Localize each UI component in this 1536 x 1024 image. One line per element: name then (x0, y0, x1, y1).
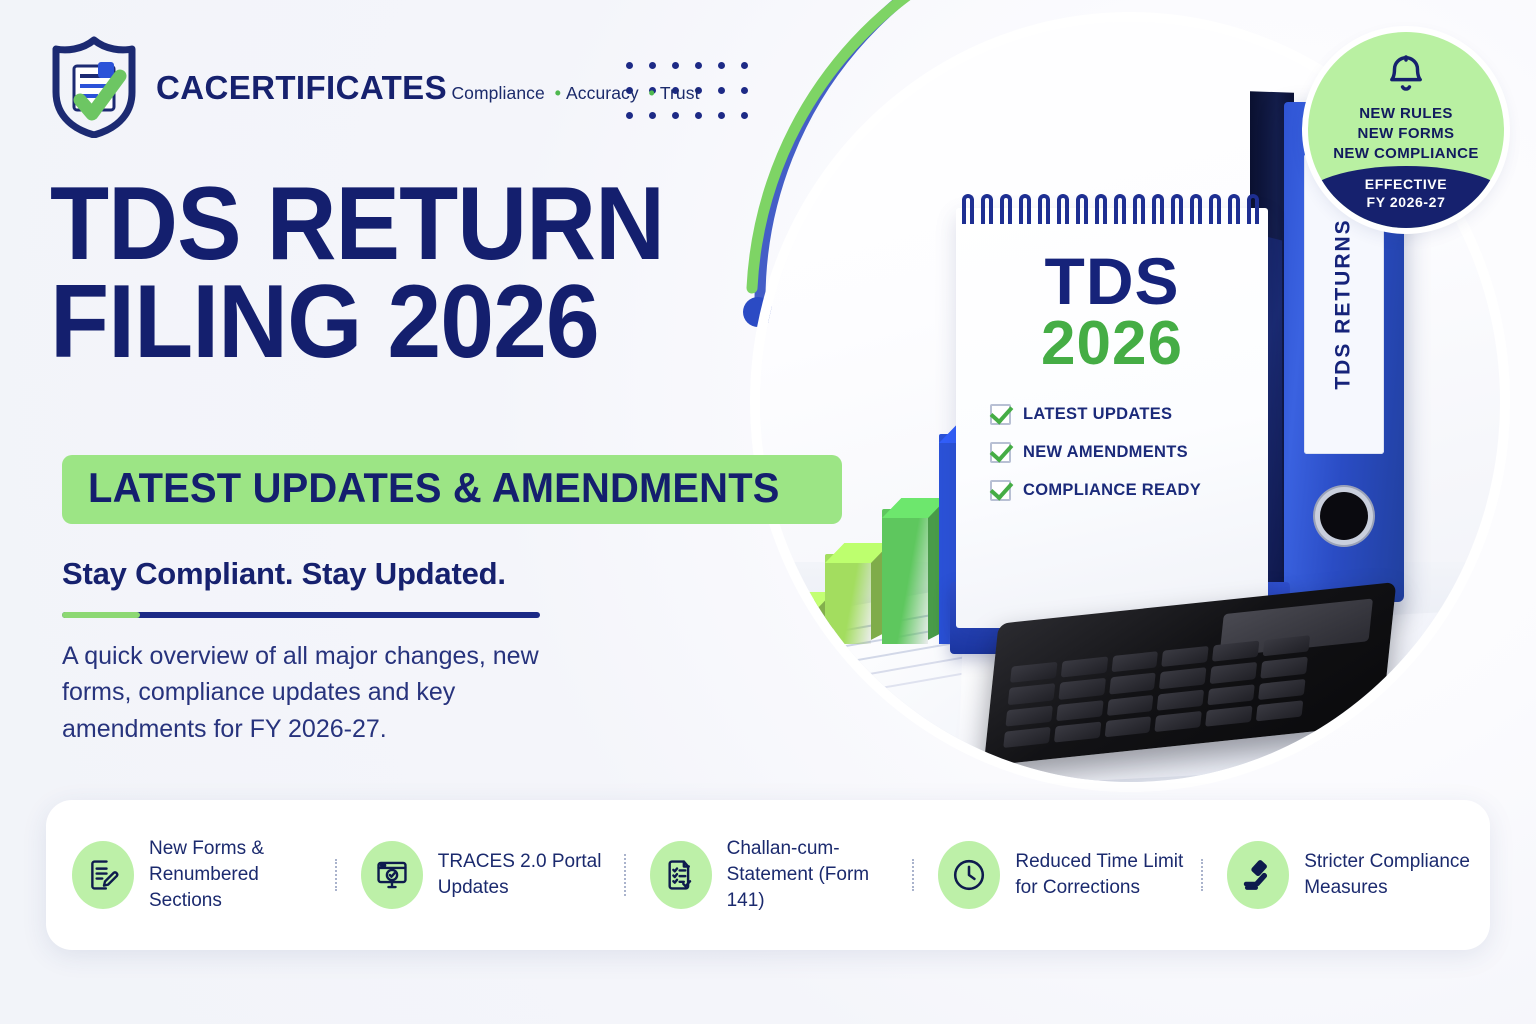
calendar-checklist-item: LATEST UPDATES (990, 404, 1268, 425)
feature-label: Stricter Compliance Measures (1304, 849, 1480, 901)
feature-label: Challan-cum-Statement (Form 141) (727, 836, 903, 915)
calendar-title-year: 2026 (956, 315, 1268, 374)
badge-effective-band: EFFECTIVE FY 2026-27 (1308, 166, 1504, 228)
badge-band-line-2: FY 2026-27 (1308, 194, 1504, 212)
shield-check-document-icon (46, 36, 142, 138)
feature-item-stricter-compliance[interactable]: Stricter Compliance Measures (1201, 841, 1490, 909)
headline-line-2: FILING 2026 (50, 274, 701, 372)
brand-logo[interactable]: CACERTIFICATES Compliance • Accuracy • T… (46, 36, 700, 138)
headline-line-1: TDS RETURN (50, 176, 701, 274)
highlight-band-text: LATEST UPDATES & AMENDMENTS (88, 464, 780, 512)
binder-finger-hole-icon (1320, 492, 1368, 540)
tagline-part-2: Accuracy (566, 83, 639, 103)
chart-bar (882, 509, 928, 644)
tagline-part-3: Trust (660, 83, 700, 103)
feature-item-reduced-time-limit[interactable]: Reduced Time Limit for Corrections (912, 841, 1201, 909)
calendar-checklist-label: LATEST UPDATES (1023, 405, 1172, 424)
spiral-binding-icon (962, 194, 1262, 228)
badge-line-2: NEW FORMS (1308, 124, 1504, 144)
tagline-part-1: Compliance (451, 83, 544, 103)
calendar-title-tds: TDS (956, 250, 1268, 313)
desk-calendar: TDS 2026 LATEST UPDATES NEW AMENDMENTS (956, 182, 1276, 612)
badge-text-lines: NEW RULES NEW FORMS NEW COMPLIANCE (1308, 104, 1504, 164)
feature-label: New Forms & Renumbered Sections (149, 836, 325, 915)
calendar-checklist-item: NEW AMENDMENTS (990, 442, 1268, 463)
gavel-icon (1227, 841, 1289, 909)
feature-label: TRACES 2.0 Portal Updates (438, 849, 614, 901)
binder-label-text: TDS RETURNS (1332, 218, 1356, 389)
divider-rule (62, 612, 540, 618)
badge-line-1: NEW RULES (1308, 104, 1504, 124)
page-title: TDS RETURN FILING 2026 (50, 176, 701, 372)
document-pencil-icon (72, 841, 134, 909)
feature-label: Reduced Time Limit for Corrections (1015, 849, 1191, 901)
calendar-checklist-label: COMPLIANCE READY (1023, 481, 1201, 500)
poster-canvas: TDS RETURNS TDS 2026 LA (0, 0, 1536, 1024)
calendar-checklist-item: COMPLIANCE READY (990, 480, 1268, 501)
feature-item-traces-portal[interactable]: TRACES 2.0 Portal Updates (335, 841, 624, 909)
checklist-check-icon (650, 841, 712, 909)
feature-item-challan-statement[interactable]: Challan-cum-Statement (Form 141) (624, 836, 913, 915)
badge-band-line-1: EFFECTIVE (1308, 176, 1504, 194)
calculator-keys (1003, 635, 1310, 748)
checkbox-checked-icon (990, 442, 1011, 463)
calendar-checklist: LATEST UPDATES NEW AMENDMENTS COMPLIANCE… (990, 404, 1268, 501)
monitor-check-icon (361, 841, 423, 909)
body-description: A quick overview of all major changes, n… (62, 638, 582, 747)
badge-line-3: NEW COMPLIANCE (1308, 144, 1504, 164)
subheadline: Stay Compliant. Stay Updated. (62, 556, 506, 592)
brand-tagline: Compliance • Accuracy • Trust (451, 83, 699, 103)
new-rules-badge: NEW RULES NEW FORMS NEW COMPLIANCE EFFEC… (1308, 32, 1504, 228)
checkbox-checked-icon (990, 480, 1011, 501)
checkbox-checked-icon (990, 404, 1011, 425)
feature-bar: New Forms & Renumbered Sections TRACES 2… (46, 800, 1490, 950)
brand-logo-text: CACERTIFICATES Compliance • Accuracy • T… (156, 71, 700, 104)
calendar-checklist-label: NEW AMENDMENTS (1023, 443, 1188, 462)
chart-bar (825, 554, 871, 644)
clock-icon (938, 841, 1000, 909)
highlight-band: LATEST UPDATES & AMENDMENTS (62, 455, 842, 524)
chart-bar (768, 603, 814, 644)
feature-item-new-forms[interactable]: New Forms & Renumbered Sections (46, 836, 335, 915)
calendar-page: TDS 2026 LATEST UPDATES NEW AMENDMENTS (956, 208, 1268, 628)
brand-name: CACERTIFICATES (156, 69, 447, 106)
